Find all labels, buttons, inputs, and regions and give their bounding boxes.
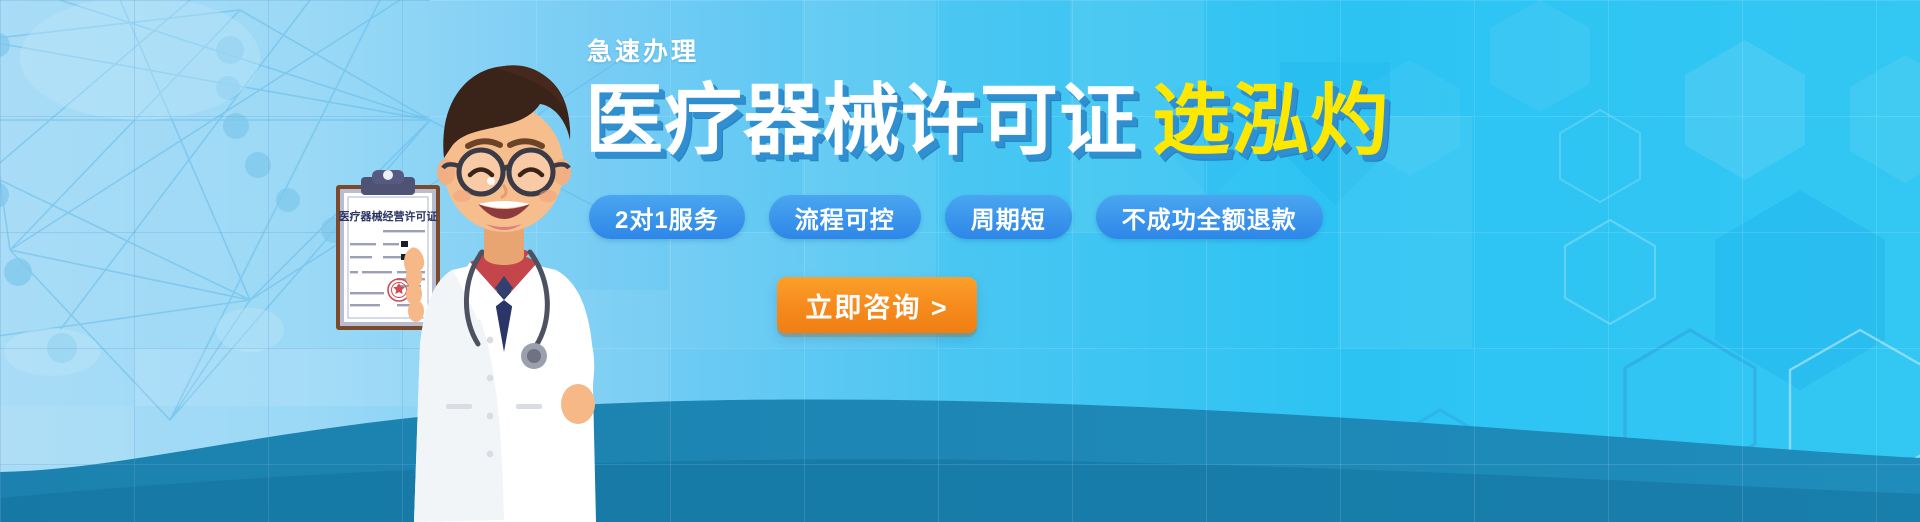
clipboard-clip bbox=[361, 170, 415, 195]
certificate-title: 医疗器械经营许可证 bbox=[339, 209, 438, 223]
feature-badge-label: 不成功全额退款 bbox=[1122, 200, 1297, 235]
headline-accent: 选泓灼 bbox=[1152, 81, 1389, 159]
doctor-hand bbox=[561, 384, 595, 424]
certificate-clipboard: 医疗器械经营许可证 bbox=[336, 170, 440, 330]
consult-now-button[interactable]: 立即咨询 > bbox=[777, 277, 977, 333]
headline: 医疗器械许可证 选泓灼 bbox=[585, 81, 1345, 159]
doctor-figure bbox=[414, 65, 596, 522]
promo-banner: 医疗器械经营许可证 bbox=[0, 0, 1920, 522]
eyebrow-text: 急速办理 bbox=[587, 40, 1345, 65]
headline-primary: 医疗器械许可证 bbox=[585, 81, 1138, 159]
feature-badge[interactable]: 周期短 bbox=[945, 195, 1072, 239]
feature-badge-label: 周期短 bbox=[971, 200, 1046, 235]
feature-badge[interactable]: 不成功全额退款 bbox=[1096, 195, 1323, 239]
feature-badge[interactable]: 2对1服务 bbox=[589, 195, 745, 239]
cta-container: 立即咨询 > bbox=[777, 277, 1345, 333]
feature-badge[interactable]: 流程可控 bbox=[769, 195, 921, 239]
feature-badge-label: 流程可控 bbox=[795, 200, 895, 235]
feature-badge-list: 2对1服务 流程可控 周期短 不成功全额退款 bbox=[589, 195, 1345, 239]
feature-badge-label: 2对1服务 bbox=[615, 200, 719, 235]
banner-copy: 急速办理 医疗器械许可证 选泓灼 2对1服务 流程可控 周期短 不成功全额退款 … bbox=[585, 40, 1345, 333]
